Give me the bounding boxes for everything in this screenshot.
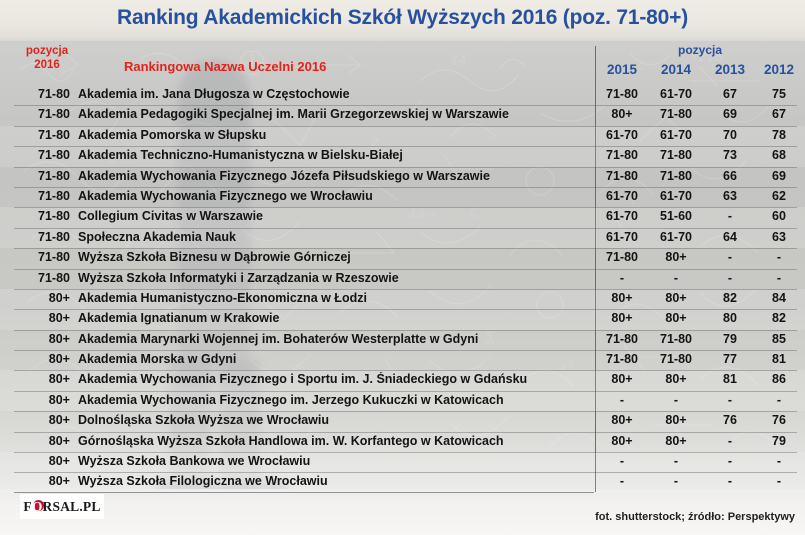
cell-2015: 61-70 (595, 189, 649, 203)
forsal-logo: FORSAL.PL (20, 494, 104, 519)
cell-2015: 80+ (595, 434, 649, 448)
cell-university-name: Collegium Civitas w Warszawie (78, 209, 590, 223)
cell-2015: 71-80 (595, 148, 649, 162)
cell-2015: 80+ (595, 372, 649, 386)
cell-2013: 76 (703, 413, 757, 427)
row-separator (14, 432, 797, 433)
cell-position-2016: 80+ (14, 434, 70, 448)
cell-2015: 71-80 (595, 169, 649, 183)
cell-2014: 80+ (649, 311, 703, 325)
cell-2012: - (752, 250, 805, 264)
cell-2015: 71-80 (595, 87, 649, 101)
table-row: 80+Wyższa Szkoła Bankowa we Wrocławiu---… (0, 452, 805, 472)
cell-position-2016: 80+ (14, 393, 70, 407)
header-year-2012: 2012 (752, 62, 805, 77)
cell-university-name: Wyższa Szkoła Filologiczna we Wrocławiu (78, 474, 590, 488)
cell-2012: 60 (752, 209, 805, 223)
table-row: 71-80Akademia im. Jana Długosza w Często… (0, 85, 805, 105)
cell-2014: 71-80 (649, 148, 703, 162)
cell-2013: - (703, 474, 757, 488)
cell-position-2016: 80+ (14, 311, 70, 325)
cell-2014: 80+ (649, 434, 703, 448)
table-row: 71-80Akademia Techniczno-Humanistyczna w… (0, 146, 805, 166)
cell-2013: - (703, 209, 757, 223)
row-separator (14, 248, 797, 249)
header-year-2015: 2015 (595, 62, 649, 77)
table-row: 80+Wyższa Szkoła Filologiczna we Wrocław… (0, 472, 805, 492)
ranking-table-body: 71-80Akademia im. Jana Długosza w Często… (0, 85, 805, 493)
cell-2014: 71-80 (649, 332, 703, 346)
cell-2015: 61-70 (595, 209, 649, 223)
table-row: 80+Akademia Marynarki Wojennej im. Bohat… (0, 330, 805, 350)
page-title: Ranking Akademickich Szkół Wyższych 2016… (0, 6, 805, 30)
row-separator (14, 289, 797, 290)
cell-2014: 80+ (649, 291, 703, 305)
row-separator (14, 85, 797, 86)
cell-2015: - (595, 393, 649, 407)
row-separator (14, 370, 797, 371)
header-pozycja-group: pozycja (595, 43, 805, 57)
cell-2015: 80+ (595, 311, 649, 325)
table-row: 71-80Akademia Pomorska w Słupsku61-7061-… (0, 126, 805, 146)
cell-position-2016: 80+ (14, 413, 70, 427)
row-separator (14, 187, 797, 188)
header-university-name: Rankingowa Nazwa Uczelni 2016 (124, 59, 326, 74)
cell-2012: 78 (752, 128, 805, 142)
row-separator (14, 350, 797, 351)
cell-position-2016: 71-80 (14, 189, 70, 203)
cell-university-name: Akademia Pedagogiki Specjalnej im. Marii… (78, 107, 590, 121)
cell-university-name: Akademia Morska w Gdyni (78, 352, 590, 366)
cell-position-2016: 80+ (14, 332, 70, 346)
cell-2013: 69 (703, 107, 757, 121)
cell-2012: 62 (752, 189, 805, 203)
row-separator (14, 472, 797, 473)
forsal-logo-letters: FORSAL.PL (23, 499, 100, 514)
logo-hole: O (32, 499, 43, 514)
cell-2015: 71-80 (595, 352, 649, 366)
cell-position-2016: 71-80 (14, 87, 70, 101)
cell-2014: - (649, 393, 703, 407)
cell-position-2016: 80+ (14, 454, 70, 468)
cell-position-2016: 71-80 (14, 209, 70, 223)
row-separator (14, 105, 797, 106)
header-position-label: pozycja (16, 44, 78, 58)
cell-position-2016: 80+ (14, 372, 70, 386)
cell-2014: 61-70 (649, 128, 703, 142)
cell-university-name: Akademia Wychowania Fizycznego i Sportu … (78, 372, 590, 386)
cell-2013: 67 (703, 87, 757, 101)
cell-2012: - (752, 474, 805, 488)
cell-2013: 66 (703, 169, 757, 183)
cell-position-2016: 80+ (14, 352, 70, 366)
table-row: 80+Dolnośląska Szkoła Wyższa we Wrocławi… (0, 411, 805, 431)
infographic-root: 444218 CZ 44 +C ∫π ∑x² √∞ Ranking Akadem… (0, 0, 805, 535)
row-separator (14, 167, 797, 168)
cell-2013: 63 (703, 189, 757, 203)
row-separator (14, 126, 797, 127)
table-row: 80+Akademia Morska w Gdyni71-8071-807781 (0, 350, 805, 370)
cell-2012: 76 (752, 413, 805, 427)
table-row: 71-80Wyższa Szkoła Informatyki i Zarządz… (0, 269, 805, 289)
cell-2014: 61-70 (649, 87, 703, 101)
cell-2012: 69 (752, 169, 805, 183)
cell-2014: 71-80 (649, 169, 703, 183)
cell-university-name: Społeczna Akademia Nauk (78, 230, 590, 244)
row-separator (14, 228, 797, 229)
header-year-2014: 2014 (649, 62, 703, 77)
table-row: 80+Akademia Ignatianum w Krakowie80+80+8… (0, 309, 805, 329)
cell-university-name: Akademia Wychowania Fizycznego we Wrocła… (78, 189, 590, 203)
cell-university-name: Dolnośląska Szkoła Wyższa we Wrocławiu (78, 413, 590, 427)
cell-university-name: Akademia Marynarki Wojennej im. Bohateró… (78, 332, 590, 346)
cell-university-name: Akademia im. Jana Długosza w Częstochowi… (78, 87, 590, 101)
cell-2013: - (703, 250, 757, 264)
row-separator (14, 309, 797, 310)
table-row: 71-80Wyższa Szkoła Biznesu w Dąbrowie Gó… (0, 248, 805, 268)
cell-2015: - (595, 454, 649, 468)
header-position-2016: pozycja 2016 (16, 44, 78, 72)
cell-2014: - (649, 454, 703, 468)
table-row: 71-80Collegium Civitas w Warszawie61-705… (0, 207, 805, 227)
cell-2012: 67 (752, 107, 805, 121)
cell-2013: - (703, 454, 757, 468)
cell-2013: 64 (703, 230, 757, 244)
cell-position-2016: 71-80 (14, 250, 70, 264)
cell-position-2016: 80+ (14, 291, 70, 305)
cell-2013: 77 (703, 352, 757, 366)
cell-2014: 71-80 (649, 352, 703, 366)
header-position-year: 2016 (16, 58, 78, 72)
cell-position-2016: 71-80 (14, 107, 70, 121)
cell-2013: 80 (703, 311, 757, 325)
cell-position-2016: 80+ (14, 474, 70, 488)
row-separator (14, 269, 797, 270)
cell-2014: 51-60 (649, 209, 703, 223)
cell-university-name: Akademia Wychowania Fizycznego im. Jerze… (78, 393, 590, 407)
cell-2014: 61-70 (649, 230, 703, 244)
table-header: pozycja 2016 Rankingowa Nazwa Uczelni 20… (0, 41, 805, 85)
cell-2014: 61-70 (649, 189, 703, 203)
cell-2012: 63 (752, 230, 805, 244)
table-bottom-rule (14, 492, 594, 493)
cell-2013: - (703, 393, 757, 407)
table-row: 80+Akademia Wychowania Fizycznego im. Je… (0, 391, 805, 411)
cell-university-name: Akademia Techniczno-Humanistyczna w Biel… (78, 148, 590, 162)
cell-2015: 71-80 (595, 250, 649, 264)
cell-university-name: Wyższa Szkoła Bankowa we Wrocławiu (78, 454, 590, 468)
cell-2015: 61-70 (595, 128, 649, 142)
cell-position-2016: 71-80 (14, 271, 70, 285)
cell-university-name: Wyższa Szkoła Biznesu w Dąbrowie Górnicz… (78, 250, 590, 264)
cell-2015: - (595, 271, 649, 285)
row-separator (14, 330, 797, 331)
cell-2015: 80+ (595, 291, 649, 305)
row-separator (14, 411, 797, 412)
table-row: 71-80Akademia Wychowania Fizycznego we W… (0, 187, 805, 207)
row-separator (14, 146, 797, 147)
cell-2015: 71-80 (595, 332, 649, 346)
cell-2013: 73 (703, 148, 757, 162)
cell-position-2016: 71-80 (14, 230, 70, 244)
cell-university-name: Wyższa Szkoła Informatyki i Zarządzania … (78, 271, 590, 285)
cell-2013: 79 (703, 332, 757, 346)
cell-2012: 82 (752, 311, 805, 325)
row-separator (14, 452, 797, 453)
table-row: 71-80Społeczna Akademia Nauk61-7061-7064… (0, 228, 805, 248)
cell-2012: 86 (752, 372, 805, 386)
table-row: 80+Górnośląska Wyższa Szkoła Handlowa im… (0, 432, 805, 452)
cell-2014: 80+ (649, 413, 703, 427)
cell-2013: 81 (703, 372, 757, 386)
cell-2015: 80+ (595, 107, 649, 121)
header-year-2013: 2013 (703, 62, 757, 77)
cell-2013: 82 (703, 291, 757, 305)
source-credit: fot. shutterstock; źródło: Perspektywy (595, 511, 795, 523)
cell-2015: 61-70 (595, 230, 649, 244)
cell-2014: 71-80 (649, 107, 703, 121)
cell-2012: 85 (752, 332, 805, 346)
cell-university-name: Górnośląska Wyższa Szkoła Handlowa im. W… (78, 434, 590, 448)
cell-2013: - (703, 271, 757, 285)
cell-2012: 68 (752, 148, 805, 162)
cell-university-name: Akademia Ignatianum w Krakowie (78, 311, 590, 325)
cell-2014: 80+ (649, 250, 703, 264)
cell-position-2016: 71-80 (14, 169, 70, 183)
cell-2014: - (649, 271, 703, 285)
forsal-logo-text: FORSAL.PL (23, 499, 100, 515)
table-row: 80+Akademia Wychowania Fizycznego i Spor… (0, 370, 805, 390)
table-row: 80+Akademia Humanistyczno-Ekonomiczna w … (0, 289, 805, 309)
cell-2015: 80+ (595, 413, 649, 427)
cell-2015: - (595, 474, 649, 488)
cell-2012: - (752, 454, 805, 468)
cell-2012: 81 (752, 352, 805, 366)
cell-2012: - (752, 393, 805, 407)
cell-2012: 79 (752, 434, 805, 448)
cell-university-name: Akademia Pomorska w Słupsku (78, 128, 590, 142)
logo-prefix: F (23, 499, 31, 514)
cell-position-2016: 71-80 (14, 128, 70, 142)
cell-2012: 75 (752, 87, 805, 101)
cell-2012: 84 (752, 291, 805, 305)
cell-position-2016: 71-80 (14, 148, 70, 162)
cell-2013: - (703, 434, 757, 448)
row-separator (14, 207, 797, 208)
cell-2012: - (752, 271, 805, 285)
header-year-columns: 2015 2014 2013 2012 (595, 62, 805, 82)
logo-suffix: RSAL.PL (43, 499, 101, 514)
table-row: 71-80Akademia Wychowania Fizycznego Józe… (0, 167, 805, 187)
cell-2013: 70 (703, 128, 757, 142)
cell-university-name: Akademia Wychowania Fizycznego Józefa Pi… (78, 169, 590, 183)
cell-university-name: Akademia Humanistyczno-Ekonomiczna w Łod… (78, 291, 590, 305)
cell-2014: 80+ (649, 372, 703, 386)
row-separator (14, 391, 797, 392)
table-row: 71-80Akademia Pedagogiki Specjalnej im. … (0, 105, 805, 125)
cell-2014: - (649, 474, 703, 488)
